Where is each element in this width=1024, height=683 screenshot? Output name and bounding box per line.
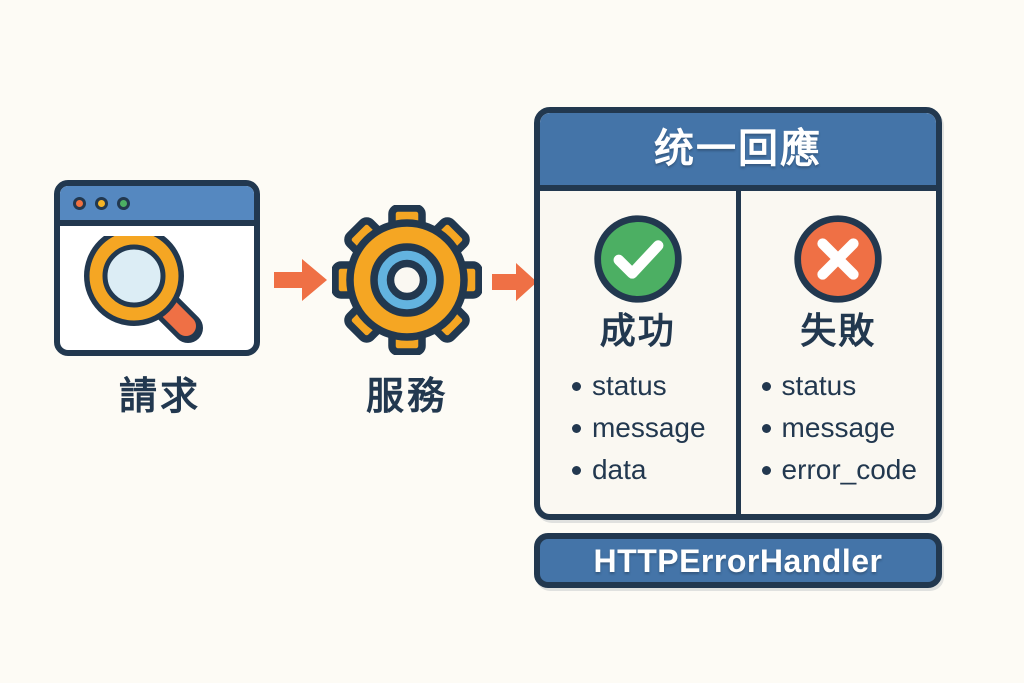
response-card-columns: 成功 status message data 失敗 status message	[540, 191, 936, 514]
request-node	[54, 180, 266, 356]
response-card-header: 统一回應	[540, 113, 936, 191]
window-dot-red-icon	[73, 197, 86, 210]
list-item: error_code	[760, 449, 917, 491]
browser-titlebar	[60, 186, 254, 226]
unified-response-card: 统一回應 成功 status message data	[534, 107, 942, 520]
success-field-list: status message data	[570, 365, 706, 491]
check-circle-icon	[590, 211, 686, 307]
service-node	[332, 205, 482, 360]
http-error-handler-pill: HTTPErrorHandler	[534, 533, 942, 588]
http-error-handler-label: HTTPErrorHandler	[594, 545, 883, 577]
list-item: message	[570, 407, 706, 449]
diagram-canvas: 請求	[0, 0, 1024, 683]
list-item: status	[570, 365, 706, 407]
request-label: 請求	[54, 378, 266, 416]
list-item: status	[760, 365, 917, 407]
failure-field-list: status message error_code	[760, 365, 917, 491]
magnifier-search-icon	[82, 236, 232, 351]
success-column: 成功 status message data	[540, 191, 736, 514]
failure-title: 失敗	[800, 313, 876, 349]
window-dot-green-icon	[117, 197, 130, 210]
right-arrow-icon	[274, 258, 328, 302]
failure-column: 失敗 status message error_code	[741, 191, 937, 514]
list-item: message	[760, 407, 917, 449]
response-card-title: 统一回應	[654, 129, 822, 169]
browser-window-search-icon	[54, 180, 260, 356]
service-label: 服務	[332, 378, 482, 416]
right-arrow-icon	[492, 262, 538, 302]
browser-body	[60, 226, 254, 350]
window-dot-yellow-icon	[95, 197, 108, 210]
gear-icon	[332, 205, 482, 355]
success-title: 成功	[600, 313, 676, 349]
list-item: data	[570, 449, 706, 491]
cross-circle-icon	[790, 211, 886, 307]
